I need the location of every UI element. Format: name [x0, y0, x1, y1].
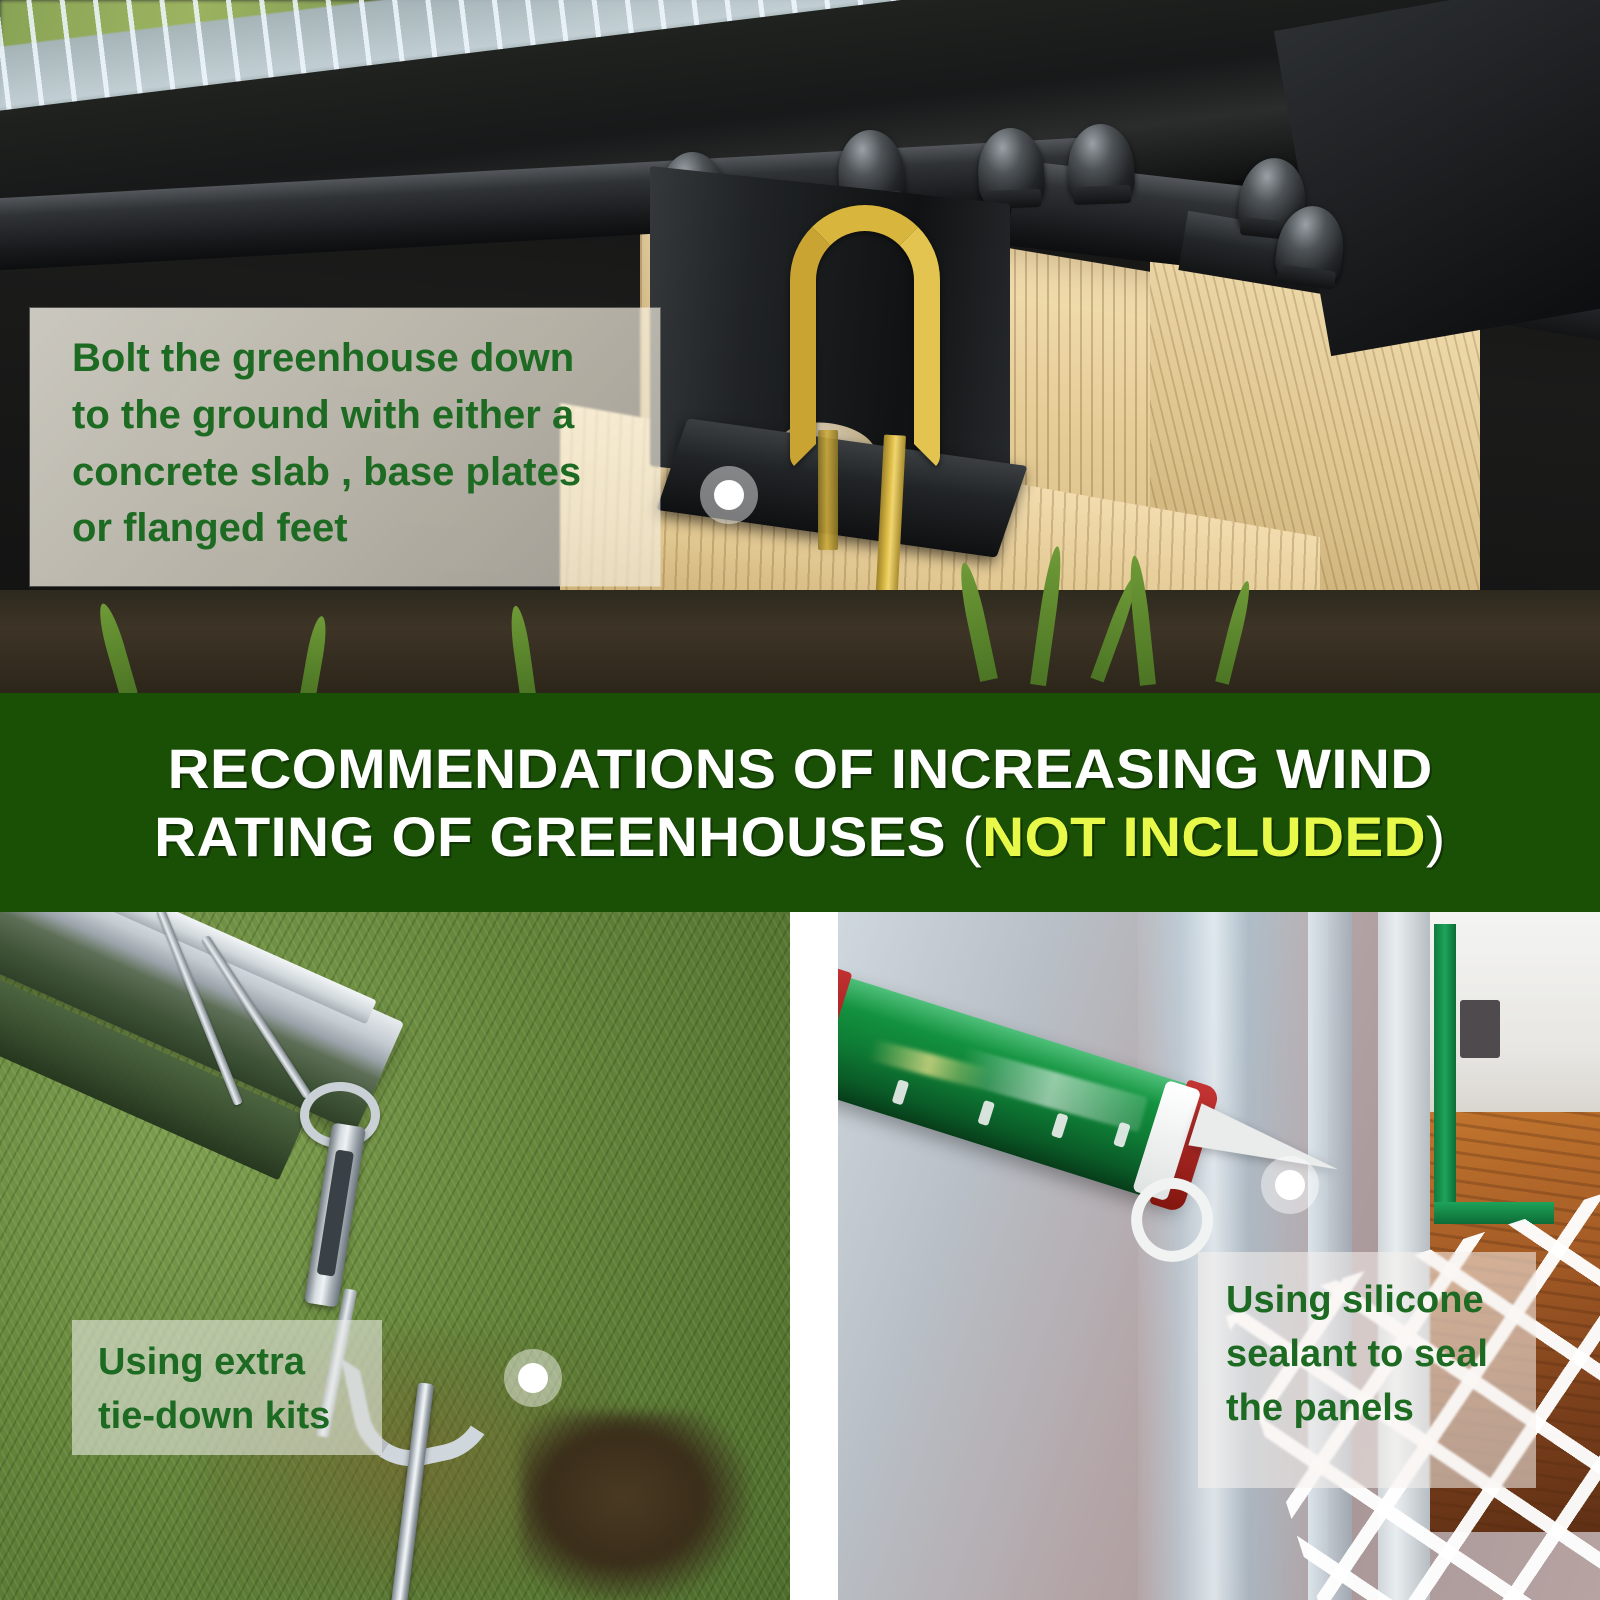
- greenhouse-wind-rating-infographic: Bolt the greenhouse down to the ground w…: [0, 0, 1600, 1600]
- caption-line: or flanged feet: [72, 500, 634, 557]
- caption-line: to the ground with either a: [72, 387, 634, 444]
- panel-sealant-photo: Using silicone sealant to seal the panel…: [838, 912, 1600, 1600]
- headline-banner: RECOMMENDATIONS OF INCREASING WIND RATIN…: [0, 693, 1600, 912]
- paren-close: ): [1426, 805, 1446, 868]
- panel-bolt-down-photo: Bolt the greenhouse down to the ground w…: [0, 0, 1600, 693]
- caption-tie-down: Using extra tie-down kits: [72, 1320, 382, 1455]
- caption-line: tie-down kits: [98, 1390, 364, 1444]
- hotspot-dot-icon: [714, 480, 744, 510]
- caption-sealant: Using silicone sealant to seal the panel…: [1198, 1252, 1536, 1488]
- caulk-nozzle-ring: [1131, 1178, 1214, 1263]
- banner-line-2-prefix: RATING OF GREENHOUSES: [154, 805, 962, 868]
- gold-ground-anchor-loop: [790, 205, 940, 545]
- anchor-loop-arc: [790, 205, 940, 470]
- anchor-loop-stem-left: [818, 430, 838, 550]
- caption-line: sealant to seal: [1226, 1328, 1518, 1382]
- caption-line: the panels: [1226, 1382, 1518, 1436]
- hotspot-tie-down[interactable]: [504, 1349, 562, 1407]
- paren-open: (: [963, 805, 983, 868]
- hotspot-dot-icon: [518, 1363, 548, 1393]
- panel-tie-down-photo: Using extra tie-down kits: [0, 912, 790, 1600]
- soil-strip: [0, 590, 1600, 693]
- banner-line-1: RECOMMENDATIONS OF INCREASING WIND: [168, 738, 1433, 800]
- caption-line: concrete slab , base plates: [72, 444, 634, 501]
- soil-patch: [520, 1412, 750, 1600]
- caption-bolt-down: Bolt the greenhouse down to the ground w…: [30, 308, 660, 586]
- banner-line-2: RATING OF GREENHOUSES (NOT INCLUDED): [154, 806, 1445, 868]
- hotspot-sealant[interactable]: [1261, 1156, 1319, 1214]
- banner-highlight-not-included: NOT INCLUDED: [982, 805, 1426, 868]
- hotspot-anchor-plate[interactable]: [700, 466, 758, 524]
- caption-line: Bolt the greenhouse down: [72, 330, 634, 387]
- caption-line: Using extra: [98, 1336, 364, 1390]
- green-frame-bar: [1434, 924, 1456, 1224]
- frame-corner-gusset: [1274, 0, 1600, 356]
- hotspot-dot-icon: [1275, 1170, 1305, 1200]
- caption-line: Using silicone: [1226, 1274, 1518, 1328]
